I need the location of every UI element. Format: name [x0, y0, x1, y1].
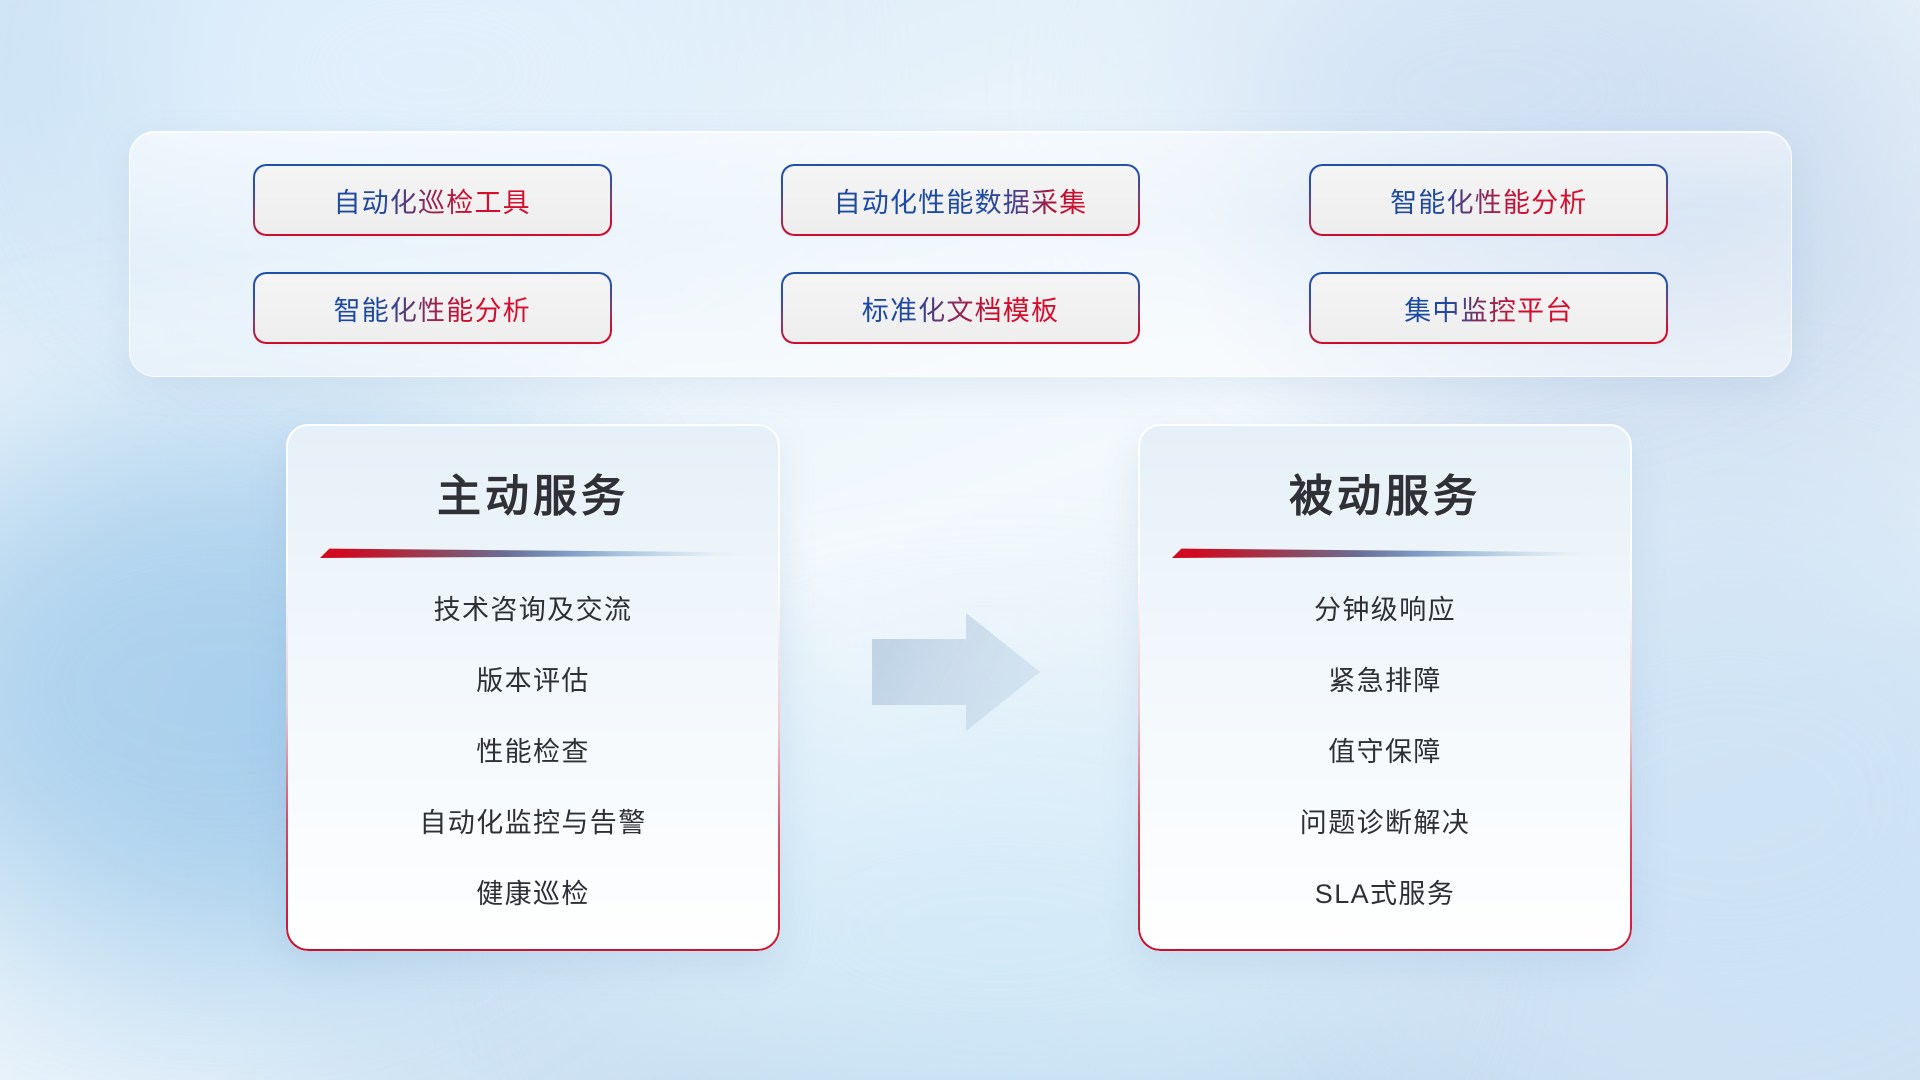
- list-item: 性能检查: [310, 730, 756, 769]
- gradient-divider-icon: [320, 546, 746, 558]
- capability-pill-5[interactable]: 标准化文档模板: [782, 274, 1138, 342]
- list-item: SLA式服务: [1162, 872, 1608, 911]
- slide-canvas: 自动化巡检工具 自动化性能数据采集 智能化性能分析 智能化性能分析 标准化文档模…: [0, 0, 1920, 1080]
- list-item: 分钟级响应: [1162, 588, 1608, 627]
- list-item: 问题诊断解决: [1162, 801, 1608, 840]
- list-item: 版本评估: [310, 659, 756, 698]
- capability-pill-6-label: 集中监控平台: [1404, 289, 1573, 328]
- list-item: 健康巡检: [310, 872, 756, 911]
- list-item: 紧急排障: [1162, 659, 1608, 698]
- capability-pill-3-label: 智能化性能分析: [1390, 181, 1587, 220]
- capability-pill-6[interactable]: 集中监控平台: [1311, 274, 1667, 342]
- capability-pill-4-label: 智能化性能分析: [333, 289, 530, 328]
- list-item: 值守保障: [1162, 730, 1608, 769]
- list-item: 技术咨询及交流: [310, 588, 756, 627]
- capability-pill-1-label: 自动化巡检工具: [333, 181, 530, 220]
- service-card-reactive: 被动服务 分钟级响应 紧急排障 值守保障 问题诊断解决 SLA式服务: [1138, 424, 1632, 951]
- capability-pill-1[interactable]: 自动化巡检工具: [254, 166, 610, 234]
- right-arrow-icon: [872, 613, 1040, 731]
- capability-pill-3[interactable]: 智能化性能分析: [1311, 166, 1667, 234]
- capability-panel: 自动化巡检工具 自动化性能数据采集 智能化性能分析 智能化性能分析 标准化文档模…: [129, 131, 1792, 377]
- list-item: 自动化监控与告警: [310, 801, 756, 840]
- capability-pill-5-label: 标准化文档模板: [862, 289, 1059, 328]
- reactive-card-divider: [1172, 546, 1598, 558]
- proactive-card-title: 主动服务: [286, 460, 780, 524]
- gradient-divider-icon: [1172, 546, 1598, 558]
- reactive-service-list: 分钟级响应 紧急排障 值守保障 问题诊断解决 SLA式服务: [1138, 588, 1632, 911]
- proactive-card-divider: [320, 546, 746, 558]
- reactive-card-title: 被动服务: [1138, 460, 1632, 524]
- service-card-proactive: 主动服务 技术咨询及交流 版本评估 性能检查 自动化监控与告警 健康巡检: [286, 424, 780, 951]
- proactive-service-list: 技术咨询及交流 版本评估 性能检查 自动化监控与告警 健康巡检: [286, 588, 780, 911]
- capability-pill-2[interactable]: 自动化性能数据采集: [782, 166, 1138, 234]
- capability-pill-2-label: 自动化性能数据采集: [834, 181, 1088, 220]
- capability-pill-4[interactable]: 智能化性能分析: [254, 274, 610, 342]
